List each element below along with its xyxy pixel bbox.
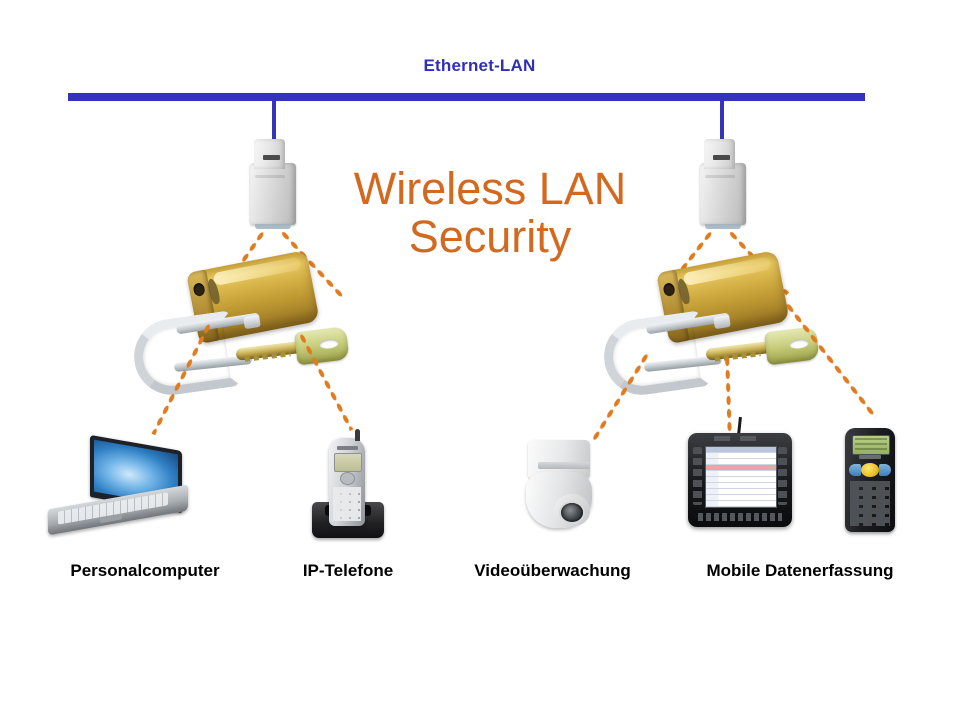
ip-phone-antenna (355, 429, 360, 441)
access-point-groove (255, 175, 285, 178)
mobile-terminal-icon[interactable] (688, 425, 792, 535)
terminal-body (688, 433, 792, 527)
access-point-foot (255, 224, 291, 229)
terminal-left-buttons[interactable] (693, 447, 702, 505)
camera-lens (561, 503, 583, 522)
access-point-left[interactable] (250, 139, 296, 225)
device-label-mobile-datenerfassung: Mobile Datenerfassung (680, 561, 920, 581)
scanner-brand-mark (859, 455, 881, 459)
camera-lens-housing (554, 494, 590, 526)
laptop-icon[interactable] (48, 443, 188, 529)
access-point-foot (705, 224, 741, 229)
padlock-left (130, 255, 345, 390)
ip-phone-navigation-pad (341, 473, 354, 484)
access-point-groove (705, 175, 735, 178)
diagram-title: Wireless LAN Security (330, 165, 650, 261)
scanner-keypad[interactable] (850, 481, 890, 526)
scanner-body (845, 428, 895, 532)
padlock-shackle-collar (243, 315, 261, 329)
ip-phone-brand-mark (337, 446, 358, 450)
device-label-ip-telefone: IP-Telefone (248, 561, 448, 581)
access-point-led-slot (713, 155, 730, 160)
wlan-security-diagram: Ethernet-LAN Wireless LAN Security (0, 0, 959, 719)
scanner-lcd-text-lines (855, 438, 887, 452)
access-point-body (250, 163, 296, 225)
access-point-right[interactable] (700, 139, 746, 225)
terminal-function-keys[interactable] (698, 513, 782, 521)
padlock-highlight (683, 256, 772, 286)
ip-phone-keypad (333, 487, 361, 521)
diagram-title-line-1: Wireless LAN (330, 165, 650, 213)
access-point-body (700, 163, 746, 225)
access-point-led-slot (263, 155, 280, 160)
access-point-neck (254, 139, 285, 169)
terminal-screen (705, 446, 777, 508)
ip-phone-lcd-screen (334, 453, 362, 472)
ptz-camera-icon[interactable] (520, 440, 600, 532)
device-label-personalcomputer: Personalcomputer (0, 561, 290, 581)
terminal-top-indicators (714, 436, 766, 441)
scanner-scan-button[interactable] (861, 463, 879, 477)
terminal-right-buttons[interactable] (778, 447, 787, 505)
handheld-scanner-icon[interactable] (845, 428, 895, 532)
key-bow-hole (319, 338, 339, 349)
scanner-lcd-screen (852, 435, 890, 455)
ethernet-lan-label: Ethernet-LAN (0, 56, 959, 76)
padlock-right (600, 255, 815, 390)
scanner-right-trigger[interactable] (879, 464, 891, 476)
key-bow-hole (789, 338, 809, 349)
scanner-left-trigger[interactable] (849, 464, 861, 476)
camera-dome (526, 472, 592, 528)
padlock-shackle-collar (713, 315, 731, 329)
padlock-highlight (213, 256, 302, 286)
ethernet-backbone-line (68, 93, 865, 101)
ip-phone-icon[interactable] (312, 438, 384, 538)
terminal-button-bar (706, 507, 776, 508)
diagram-title-line-2: Security (330, 213, 650, 261)
device-label-videoueberwachung: Videoüberwachung (455, 561, 650, 581)
camera-band (538, 462, 590, 469)
access-point-neck (704, 139, 735, 169)
ip-phone-handset (329, 438, 365, 526)
